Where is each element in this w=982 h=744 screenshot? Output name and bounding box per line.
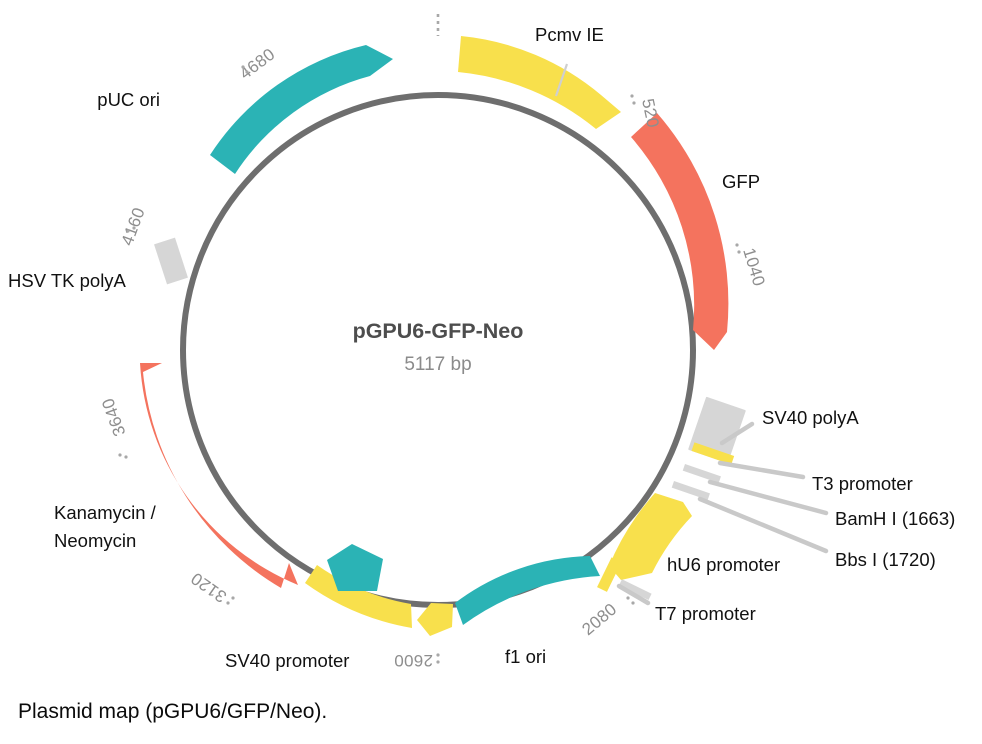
label-bamhi: BamH I (1663) [835,508,955,529]
label-f1-ori: f1 ori [505,646,546,667]
feature-puc-ori-arrow[interactable] [210,45,393,174]
tick-dot-3120 [231,596,234,599]
tick-dot-1040b [737,250,740,253]
tick-dot-2600b [436,660,439,663]
feature-f1-ori-box[interactable] [455,556,600,625]
tick-label-4160: 4160 [117,205,148,248]
tick-label-3120: 3120 [187,568,230,606]
tick-dot-3120b [226,601,229,604]
tick-dot-3640b [118,453,121,456]
plasmid-map-figure: Pcmv IE GFP hU6 promoter f1 ori SV40 pro… [0,0,982,744]
plasmid-backbone-circle [183,95,693,605]
label-t3-promoter: T3 promoter [812,473,913,494]
plasmid-map-svg: Pcmv IE GFP hU6 promoter f1 ori SV40 pro… [0,0,982,744]
tick-dot-4160 [132,226,135,229]
tick-label-2600: 2600 [394,651,433,670]
label-bbsi: Bbs I (1720) [835,549,936,570]
tick-label-520: 520 [638,97,663,130]
label-sv40-promoter: SV40 promoter [225,650,349,671]
label-t7-promoter: T7 promoter [655,603,756,624]
tick-label-2080: 2080 [578,599,620,639]
tick-dot-4160b [126,229,129,232]
feature-gfp[interactable] [631,113,728,350]
label-kanamycin-neomycin: Kanamycin / Neomycin [54,502,157,551]
feature-bamhi-site[interactable] [683,464,721,483]
plasmid-center-size: 5117 bp [404,354,471,375]
tick-label-4680: 4680 [236,45,279,84]
feature-bbsi-site[interactable] [672,481,710,500]
tick-label-3640: 3640 [98,396,129,439]
feature-unlabeled-yellow-arrow[interactable] [417,603,453,636]
tick-dot-3640 [124,455,127,458]
label-pcmv-ie: Pcmv IE [535,24,604,45]
label-hsv-tk-polya: HSV TK polyA [8,270,127,291]
tick-dot-4680b [241,65,244,68]
feature-gfp-arrow[interactable] [631,113,728,350]
tick-label-1040: 1040 [739,246,769,289]
label-gfp: GFP [722,171,760,192]
leader-t3-promoter [720,463,803,477]
label-neomycin-line2: Neomycin [54,530,136,551]
tick-dot-2080b [631,601,634,604]
tick-dot-520 [630,94,633,97]
label-sv40-polya: SV40 polyA [762,407,859,428]
feature-hsv-tk-polya-box[interactable] [154,238,188,285]
label-puc-ori: pUC ori [97,89,160,110]
tick-dot-4680 [245,70,248,73]
figure-caption: Plasmid map (pGPU6/GFP/Neo). [18,700,327,724]
plasmid-center-title: pGPU6-GFP-Neo [353,319,524,343]
label-kanamycin-line1: Kanamycin / [54,502,157,523]
tick-dot-2600 [436,653,439,656]
tick-dot-2080 [626,596,629,599]
label-hu6-promoter: hU6 promoter [667,554,780,575]
tick-dot-520b [632,101,635,104]
tick-dot-1040 [735,243,738,246]
